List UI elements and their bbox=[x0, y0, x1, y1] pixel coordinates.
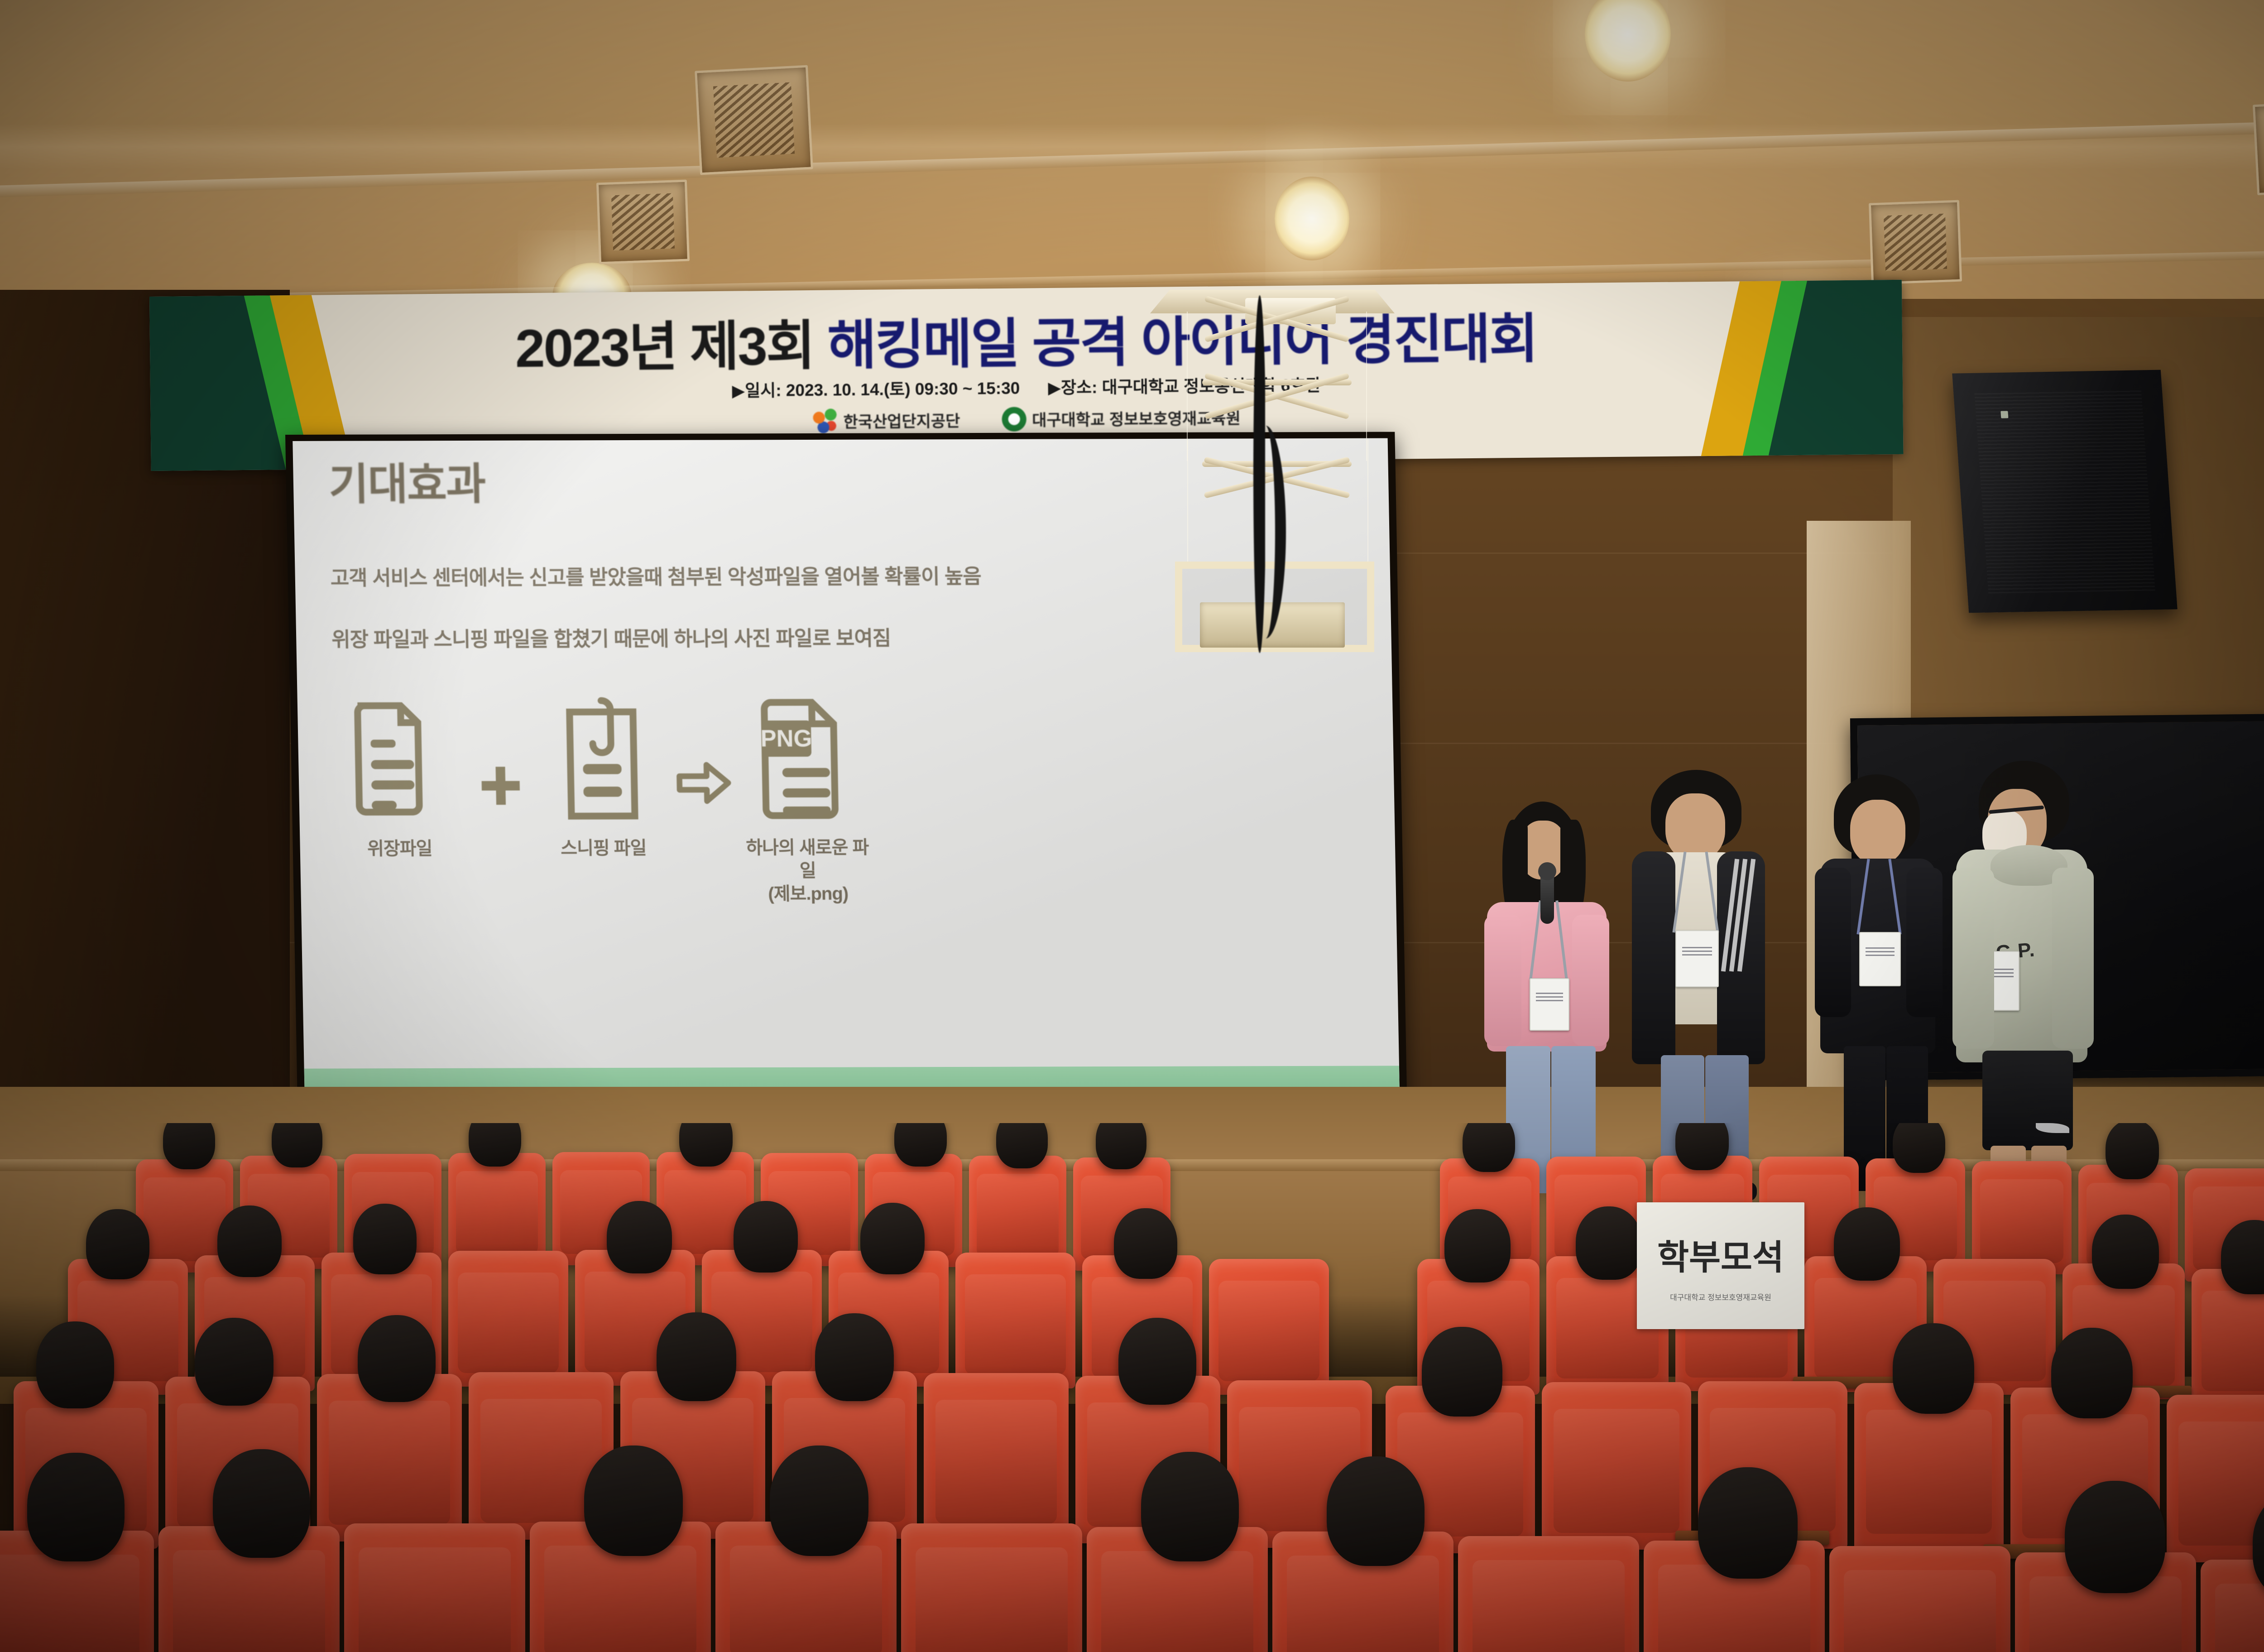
audience-head bbox=[353, 1204, 417, 1274]
seat[interactable] bbox=[448, 1251, 568, 1387]
slide-title: 기대효과 bbox=[328, 449, 486, 512]
banner-logo-kicox: 한국산업단지공단 bbox=[813, 408, 960, 433]
rig-signal-cable bbox=[1245, 426, 1286, 639]
audience-head bbox=[195, 1318, 273, 1406]
arm-right bbox=[1906, 868, 1943, 1017]
name-badge bbox=[1859, 932, 1901, 986]
png-file-icon: PNG bbox=[756, 693, 855, 825]
audience-head bbox=[1118, 1318, 1196, 1405]
audience-head bbox=[860, 1203, 925, 1274]
arm-right bbox=[1572, 915, 1609, 1046]
audience-head bbox=[1893, 1123, 1945, 1173]
face bbox=[1665, 793, 1725, 860]
auditorium-photo-scene: 2023년 제3회 해킹메일 공격 아이디어 경진대회 ▶일시: 2023. 1… bbox=[0, 0, 2264, 1652]
speaker-grill bbox=[1974, 389, 2155, 594]
seat[interactable] bbox=[344, 1523, 525, 1652]
audience-head bbox=[1327, 1456, 1425, 1566]
seat[interactable] bbox=[448, 1153, 546, 1266]
name-badge bbox=[1530, 978, 1569, 1031]
diagram-item-sniffing-file: 스니핑 파일 bbox=[533, 694, 672, 860]
clipboard-hook-phishing-icon bbox=[559, 694, 645, 825]
seat[interactable] bbox=[1458, 1536, 1639, 1652]
document-file-icon bbox=[350, 694, 447, 826]
rig-hanging-wire bbox=[1187, 439, 1188, 562]
seat[interactable] bbox=[2201, 1560, 2264, 1652]
microphone[interactable] bbox=[1540, 869, 1554, 924]
seat[interactable] bbox=[901, 1523, 1082, 1652]
audience-head bbox=[679, 1123, 733, 1167]
seat[interactable] bbox=[1972, 1161, 2072, 1274]
arm-left bbox=[1484, 915, 1521, 1046]
audience-head bbox=[2106, 1123, 2159, 1179]
banner-title-year: 2023년 제3회 bbox=[515, 316, 828, 379]
reserved-seat-sign-label: 학부모석 bbox=[1657, 1229, 1784, 1279]
audience-head bbox=[27, 1453, 125, 1561]
png-badge-label: PNG bbox=[760, 725, 812, 752]
audience-head bbox=[272, 1123, 322, 1167]
audience-head bbox=[163, 1123, 215, 1169]
audience-head bbox=[469, 1123, 521, 1167]
arm-left bbox=[1952, 868, 1994, 1049]
audience-head bbox=[894, 1123, 947, 1167]
seat[interactable] bbox=[1829, 1546, 2010, 1652]
arrow-right-icon bbox=[676, 761, 733, 804]
diagram-caption-3: 하나의 새로운 파일 (제보.png) bbox=[739, 836, 876, 906]
rig-hanging-wire bbox=[1367, 439, 1368, 562]
auditorium-seating: 학부모석 대구대학교 정보보호영재교육원 bbox=[0, 1123, 2264, 1652]
audience-head bbox=[86, 1209, 149, 1279]
audience-head bbox=[2092, 1215, 2159, 1289]
speaker-led-icon bbox=[2000, 411, 2008, 418]
kicox-pinwheel-icon bbox=[813, 408, 838, 433]
seat[interactable] bbox=[2167, 1395, 2264, 1562]
audience-head bbox=[657, 1312, 736, 1401]
diagram-caption-2: 스니핑 파일 bbox=[561, 837, 647, 860]
audience-head bbox=[1141, 1452, 1239, 1561]
audience-head bbox=[815, 1313, 894, 1401]
audience-head bbox=[1576, 1206, 1642, 1280]
diagram-item-disguise-file: 위장파일 bbox=[329, 694, 468, 861]
audience-head bbox=[1834, 1207, 1900, 1281]
audience-head bbox=[1675, 1123, 1729, 1170]
audience-head bbox=[2051, 1328, 2133, 1418]
ceiling-air-vent bbox=[695, 65, 813, 175]
diagram-item-result-file: PNG 하나의 새로운 파일 (제보.png) bbox=[737, 693, 877, 906]
audience-head bbox=[1114, 1208, 1177, 1279]
reserved-seat-sign: 학부모석 대구대학교 정보보호영재교육원 bbox=[1637, 1202, 1804, 1329]
face bbox=[1850, 800, 1905, 864]
arm-left bbox=[1815, 868, 1851, 1017]
arm-right bbox=[2052, 868, 2094, 1049]
seat[interactable] bbox=[924, 1373, 1069, 1541]
ceiling-projector-rig bbox=[1132, 290, 1413, 652]
audience-head bbox=[1463, 1123, 1515, 1172]
audience-head bbox=[1698, 1467, 1798, 1579]
audience-head bbox=[584, 1445, 683, 1556]
audience-head bbox=[996, 1123, 1048, 1168]
daegu-univ-emblem-icon bbox=[1002, 407, 1026, 432]
audience-head bbox=[770, 1445, 868, 1556]
audience-head bbox=[213, 1449, 310, 1558]
plus-icon bbox=[476, 762, 525, 810]
name-badge bbox=[1675, 930, 1719, 987]
ceiling-air-vent bbox=[596, 180, 690, 264]
seat[interactable] bbox=[1542, 1382, 1691, 1550]
audience-head bbox=[1444, 1209, 1511, 1282]
ceiling-downlight bbox=[1275, 177, 1349, 260]
torso-jacket-left bbox=[1632, 851, 1675, 1064]
wall-speaker bbox=[1952, 370, 2178, 613]
audience-head bbox=[1096, 1123, 1146, 1169]
seat[interactable] bbox=[969, 1156, 1066, 1269]
audience-head bbox=[2065, 1481, 2165, 1593]
audience-head bbox=[36, 1321, 114, 1408]
audience-head bbox=[607, 1201, 672, 1273]
banner-date: ▶일시: 2023. 10. 14.(토) 09:30 ~ 15:30 bbox=[732, 379, 1020, 400]
diagram-operator-arrow bbox=[669, 693, 739, 804]
audience-head bbox=[1422, 1327, 1502, 1417]
diagram-operator-plus bbox=[465, 694, 535, 810]
kicox-label: 한국산업단지공단 bbox=[843, 408, 960, 432]
ceiling-air-vent bbox=[1869, 200, 1962, 285]
audience-head bbox=[217, 1205, 282, 1277]
seat[interactable] bbox=[955, 1253, 1075, 1388]
audience-head bbox=[1893, 1323, 1974, 1414]
seat[interactable] bbox=[1209, 1259, 1329, 1395]
diagram-caption-1: 위장파일 bbox=[367, 837, 432, 861]
reserved-seat-sign-sub: 대구대학교 정보보호영재교육원 bbox=[1670, 1291, 1771, 1302]
audience-head bbox=[358, 1315, 436, 1402]
audience-head bbox=[734, 1201, 798, 1273]
slide-diagram: 위장파일 스니핑 파일 bbox=[329, 692, 1379, 948]
